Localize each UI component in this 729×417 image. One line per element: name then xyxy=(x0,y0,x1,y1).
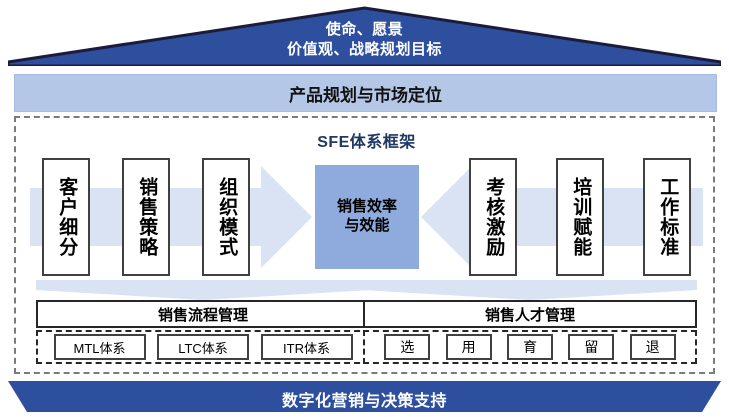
talent-chip-develop[interactable]: 育 xyxy=(507,334,553,360)
talent-chip-deploy-label: 用 xyxy=(462,337,476,357)
sales-talent-title: 销售人才管理 xyxy=(363,300,697,328)
pillar-left-2[interactable]: 销售策略 xyxy=(122,158,170,276)
pillar-left-2-label: 销售策略 xyxy=(136,177,157,257)
pillar-left-1-label: 客户细分 xyxy=(56,177,77,257)
process-chip-itr[interactable]: ITR体系 xyxy=(261,334,353,360)
base-shape: 数字化营销与决策支持 xyxy=(8,381,721,413)
base-trapezoid-svg xyxy=(8,381,721,413)
pillar-right-1[interactable]: 考核激励 xyxy=(469,158,517,276)
talent-chip-exit-label: 退 xyxy=(646,337,660,357)
pillar-left-1[interactable]: 客户细分 xyxy=(42,158,90,276)
pillar-right-2[interactable]: 培训赋能 xyxy=(556,158,604,276)
sales-process-title-label: 销售流程管理 xyxy=(158,304,248,325)
sales-process-items: MTL体系 LTC体系 ITR体系 xyxy=(36,330,370,364)
sales-talent-title-label: 销售人才管理 xyxy=(485,304,575,325)
talent-chip-develop-label: 育 xyxy=(523,337,537,357)
pillar-row: 客户细分 销售策略 组织模式 销售效率 与效能 考核激励 培训赋能 xyxy=(16,152,717,282)
process-chip-ltc-label: LTC体系 xyxy=(178,338,228,357)
pillar-left-3[interactable]: 组织模式 xyxy=(202,158,250,276)
talent-chip-retain-label: 留 xyxy=(584,337,598,357)
hub-line-1: 销售效率 xyxy=(337,198,397,217)
pillar-right-3[interactable]: 工作标准 xyxy=(643,158,691,276)
sfe-framework-diagram: 使命、愿景 价值观、战略规划目标 产品规划与市场定位 SFE体系框架 客户细分 xyxy=(0,0,729,417)
framework-title: SFE体系框架 xyxy=(16,128,717,152)
sales-talent-items: 选 用 育 留 退 xyxy=(363,330,697,364)
pillar-right-2-label: 培训赋能 xyxy=(570,177,591,257)
roof-shape: 使命、愿景 价值观、战略规划目标 xyxy=(8,6,721,66)
sfe-framework-container: SFE体系框架 客户细分 销售策略 组织模式 xyxy=(14,116,715,374)
roof-triangle-svg xyxy=(8,6,721,66)
talent-chip-select[interactable]: 选 xyxy=(384,334,430,360)
pillar-right-3-label: 工作标准 xyxy=(657,177,678,257)
process-chip-ltc[interactable]: LTC体系 xyxy=(157,334,249,360)
sales-talent-group: 销售人才管理 选 用 育 留 退 xyxy=(363,300,697,366)
talent-chip-exit[interactable]: 退 xyxy=(630,334,676,360)
talent-chip-select-label: 选 xyxy=(400,337,414,357)
pillar-right-1-label: 考核激励 xyxy=(483,177,504,257)
product-planning-banner: 产品规划与市场定位 xyxy=(14,74,717,112)
talent-chip-deploy[interactable]: 用 xyxy=(446,334,492,360)
product-planning-label: 产品规划与市场定位 xyxy=(289,81,442,106)
pillar-left-3-label: 组织模式 xyxy=(216,177,237,257)
sales-process-group: 销售流程管理 MTL体系 LTC体系 ITR体系 xyxy=(36,300,370,366)
process-chip-mtl[interactable]: MTL体系 xyxy=(54,334,146,360)
hub-line-2: 与效能 xyxy=(337,217,397,236)
process-chip-itr-label: ITR体系 xyxy=(283,338,330,357)
talent-chip-retain[interactable]: 留 xyxy=(568,334,614,360)
process-chip-mtl-label: MTL体系 xyxy=(73,338,125,357)
sales-efficiency-hub[interactable]: 销售效率 与效能 xyxy=(315,165,419,269)
sales-process-title: 销售流程管理 xyxy=(36,300,370,328)
